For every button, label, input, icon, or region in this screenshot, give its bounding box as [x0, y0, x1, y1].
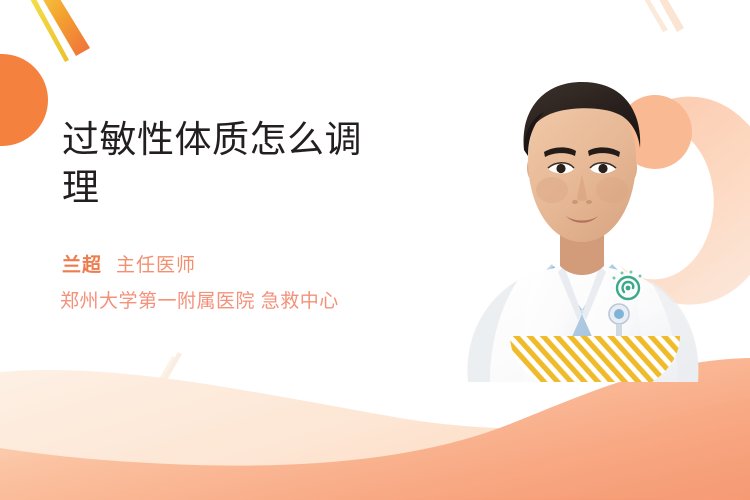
- eye-icon: [548, 163, 616, 174]
- doctor-video-cover-card: 过敏性体质怎么调 理 兰超 主任医师 郑州大学第一附属医院 急救中心: [0, 0, 750, 500]
- neck-icon: [560, 230, 604, 275]
- ear-icon: [527, 153, 637, 183]
- face-icon: [528, 96, 636, 242]
- mouth-icon: [566, 216, 598, 223]
- bottom-pale-wave-icon: [0, 370, 750, 500]
- dress-shirt-icon: [542, 264, 622, 382]
- portrait-backdrop-circle-icon: [618, 95, 692, 169]
- coat-lapel-icon: [523, 266, 642, 382]
- doctor-affiliation: 郑州大学第一附属医院 急救中心: [60, 286, 339, 313]
- lab-coat-icon: [467, 264, 698, 382]
- bottom-salmon-wave-accent-icon: [330, 398, 750, 500]
- mid-left-faint-stripe-icon: [152, 352, 182, 392]
- nose-icon: [572, 174, 592, 204]
- doctor-name: 兰超: [62, 250, 102, 277]
- id-badge-icon: [604, 304, 638, 360]
- doctor-byline: 兰超 主任医师: [62, 250, 196, 277]
- page-title: 过敏性体质怎么调 理: [62, 116, 422, 212]
- hospital-logo-icon: [613, 271, 642, 300]
- eyebrow-icon: [544, 147, 620, 157]
- bottom-salmon-wave-icon: [0, 358, 750, 500]
- striped-half-disc-icon: [492, 322, 702, 382]
- top-left-yellow-thin-stripe-icon: [25, 0, 69, 62]
- top-left-orange-stripe-icon: [35, 0, 90, 56]
- left-orange-circle-icon: [0, 54, 48, 146]
- doctor-portrait: [432, 52, 732, 382]
- hair-icon: [523, 82, 640, 156]
- portrait-backdrop-arc-icon: [610, 97, 750, 305]
- top-right-faint-stripes-icon: [640, 0, 684, 32]
- headline-block: 过敏性体质怎么调 理: [62, 116, 422, 212]
- doctor-rank: 主任医师: [116, 250, 196, 277]
